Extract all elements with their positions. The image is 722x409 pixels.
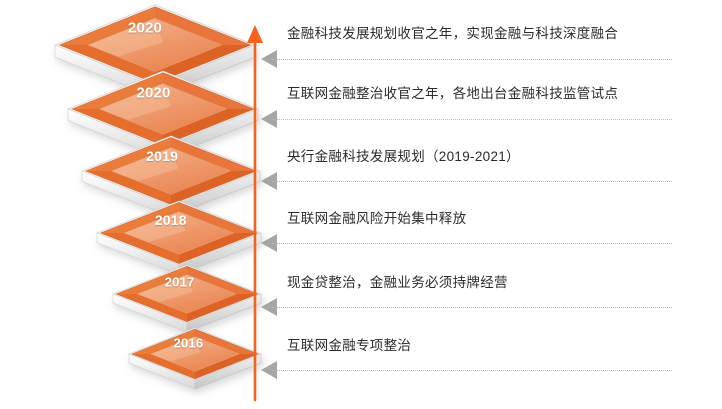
dotted-connector-5 [272,370,672,371]
dotted-connector-0 [272,59,672,60]
dotted-connector-4 [272,307,672,308]
event-label-0: 金融科技发展规划收官之年，实现金融与科技深度融合 [287,22,618,42]
timeline-infographic: 202020202019201820172016 金融科技发展规划收官之年，实现… [0,0,722,409]
event-label-3: 互联网金融风险开始集中释放 [287,207,466,227]
event-label-5: 互联网金融专项整治 [287,334,411,354]
dotted-connector-3 [272,243,672,244]
event-label-1: 互联网金融整治收官之年，各地出台金融科技监管试点 [287,82,618,102]
dotted-connector-2 [272,181,672,182]
event-label-4: 现金贷整治，金融业务必须持牌经营 [287,271,508,291]
dotted-connector-1 [272,119,672,120]
event-label-2: 央行金融科技发展规划（2019-2021） [287,145,520,165]
arrow-head-icon [247,25,263,43]
